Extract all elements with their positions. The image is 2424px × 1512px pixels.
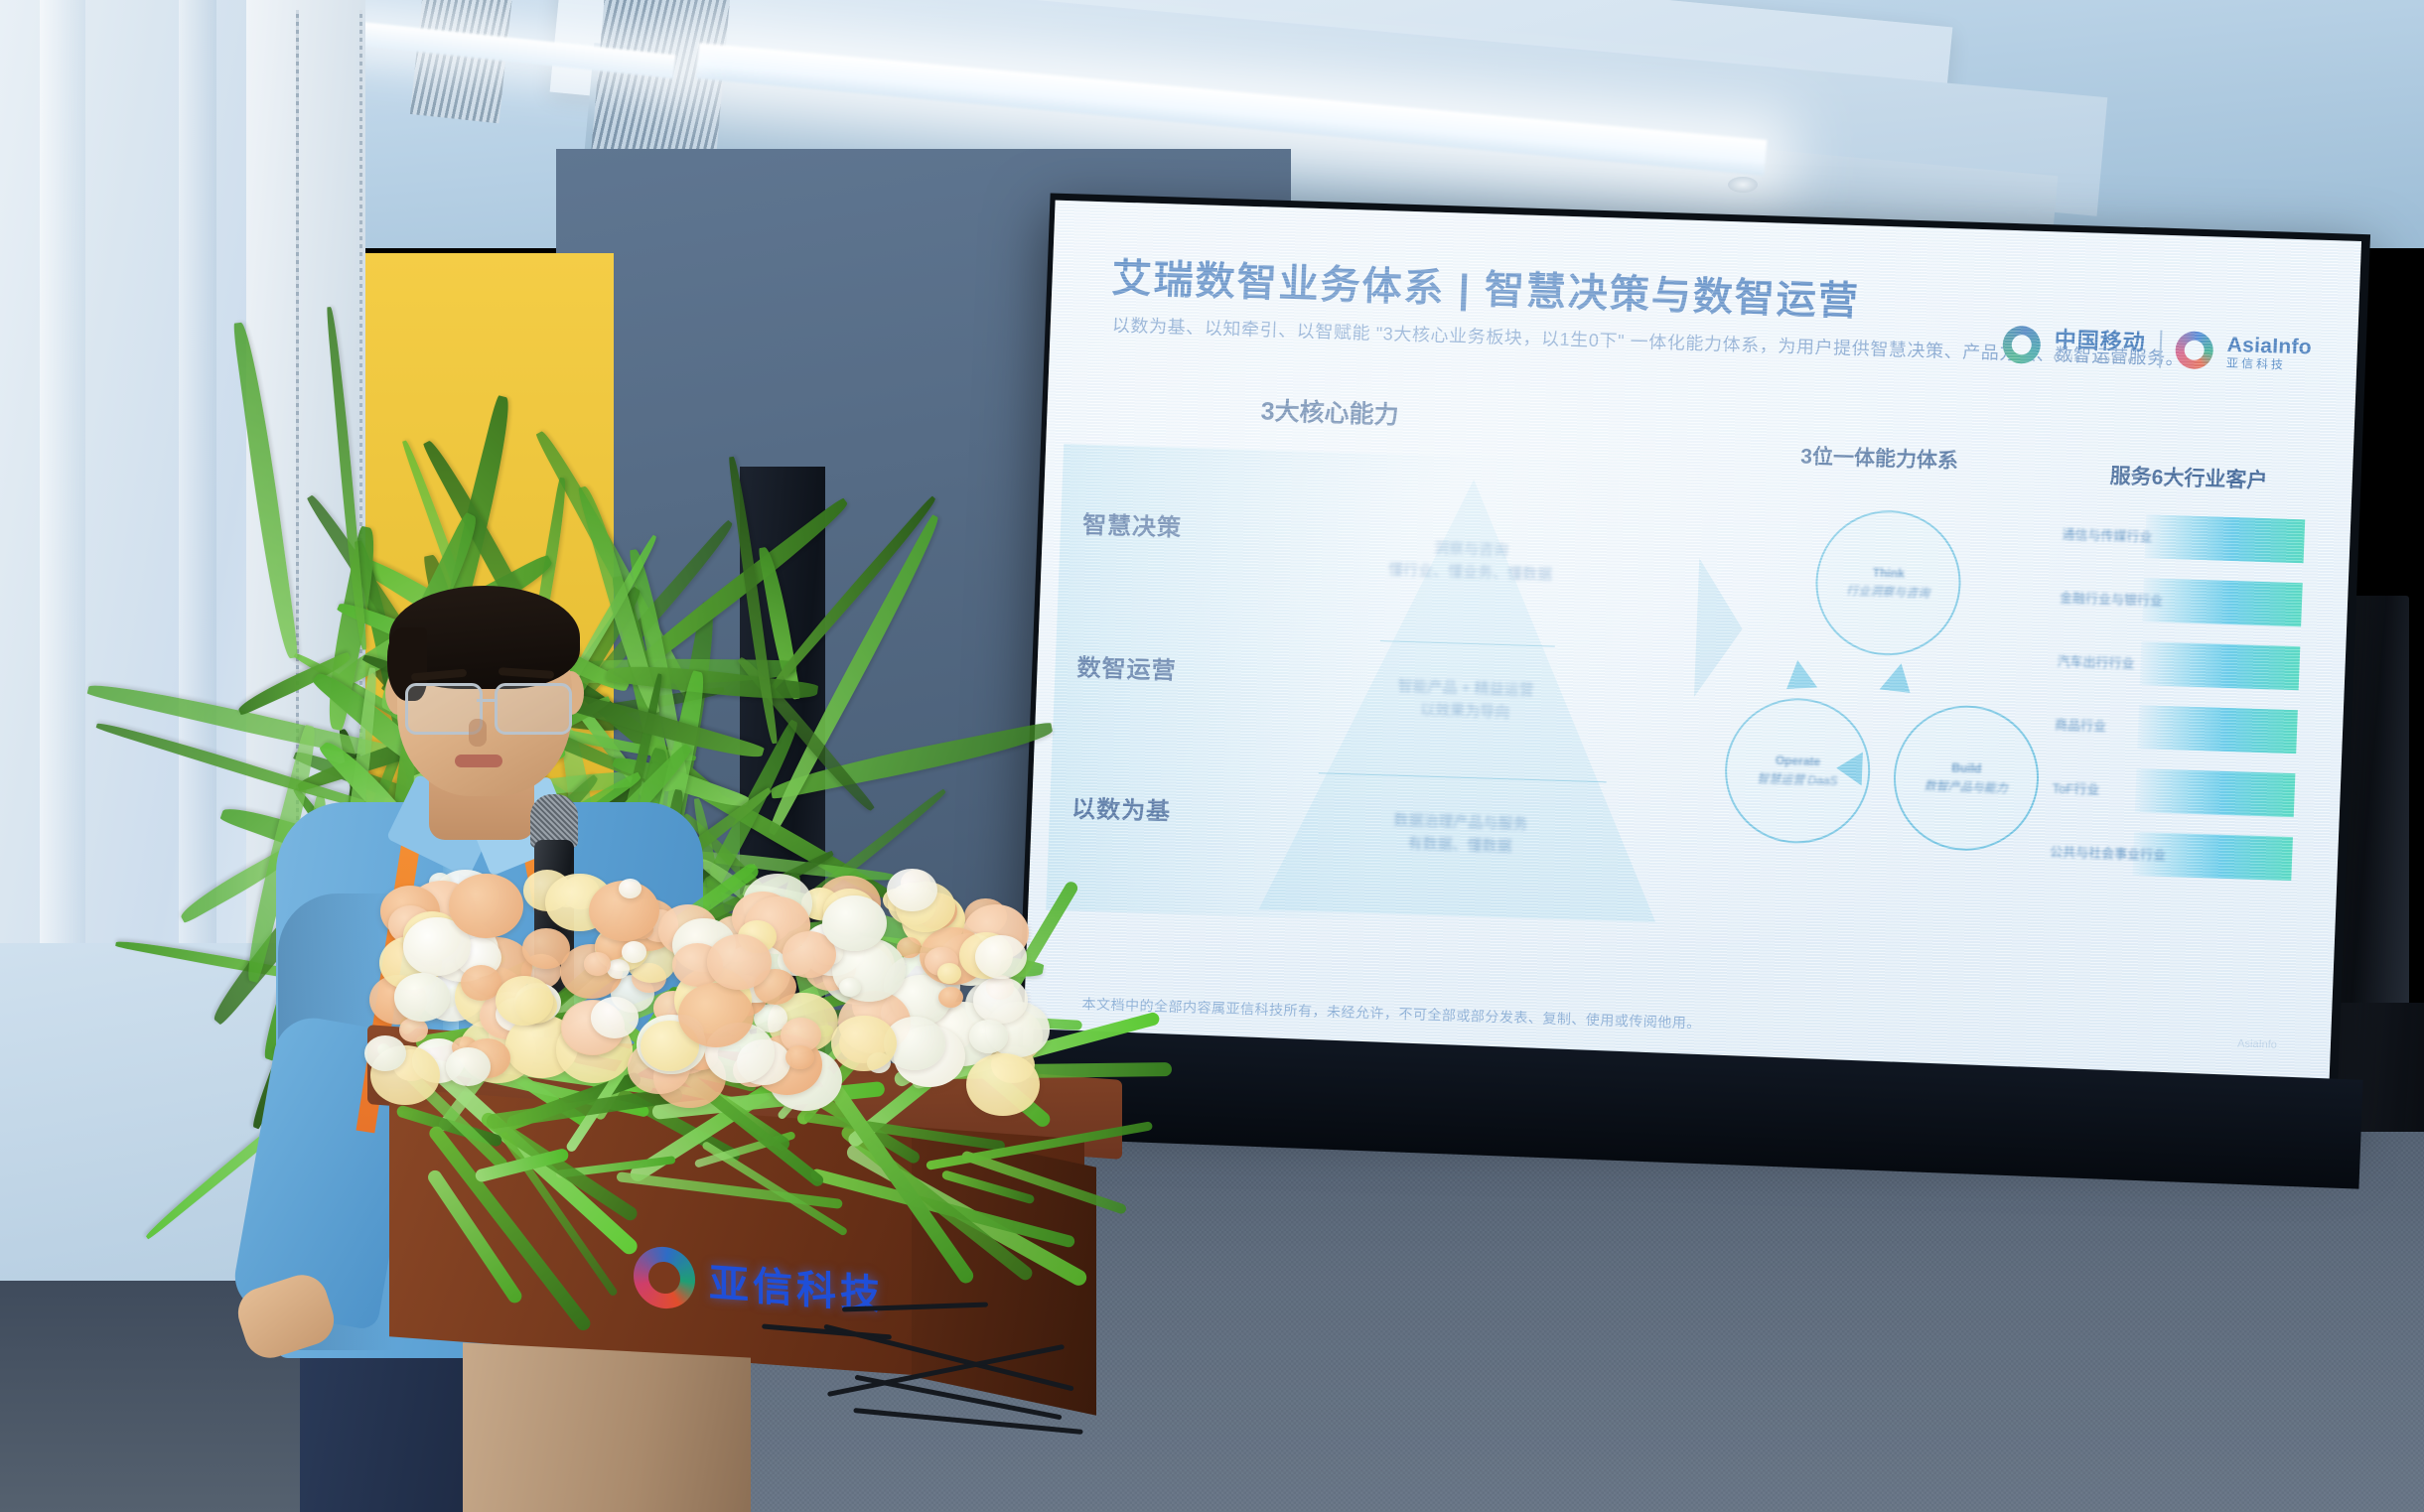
flower-bloom <box>394 973 450 1021</box>
industry-bar <box>2145 514 2306 563</box>
triad-capability-diagram: Think 行业洞察与咨询 Operate 智慧运营 DaaS Build 数智… <box>1714 487 2058 914</box>
smoke-detector-icon <box>1728 177 1758 193</box>
triad-arrow-icon <box>1777 660 1817 703</box>
speaker-mouth <box>455 755 502 767</box>
floor-cables <box>735 1291 1063 1469</box>
pyramid-level-label-2: 以数为基 <box>1071 788 1172 826</box>
industry-label: 通信与传媒行业 <box>2062 524 2153 546</box>
industry-label: ToF行业 <box>2052 777 2099 797</box>
presentation-slide: 艾瑞数智业务体系 | 智慧决策与数智运营 以数为基、以知牵引、以智赋能 "3大核… <box>1023 201 2361 1087</box>
hvac-vent-grille-secondary <box>410 0 513 123</box>
flower-bloom <box>591 997 640 1038</box>
triad-arrow-icon <box>1880 663 1922 706</box>
pyramid-heading: 3大核心能力 <box>1260 391 1399 431</box>
triad-node-2-text: Build 数智产品与能力 <box>1924 758 2008 798</box>
eyeglasses-bridge <box>477 699 497 702</box>
flower-bloom <box>619 879 642 898</box>
flower-bloom <box>966 1053 1040 1117</box>
industry-bar <box>2140 641 2301 690</box>
triad-node-2-cn: 数智产品与能力 <box>1924 778 2008 795</box>
industry-row: 金融行业与银行业 <box>2053 571 2303 632</box>
slide-footer-disclaimer: 本文档中的全部内容属亚信科技所有，未经允许，不可全部或部分发表、复制、使用或传阅… <box>1081 994 1701 1033</box>
china-mobile-name-en: China Mobile <box>2054 353 2145 366</box>
eyeglasses-lens-right <box>495 683 572 735</box>
flower-bloom <box>364 1035 406 1071</box>
flower-bloom <box>449 874 523 937</box>
triad-node-1-text: Operate 智慧运营 DaaS <box>1757 752 1839 791</box>
capability-pyramid-diagram: 洞察与咨询 懂行业、懂业务、懂数据 智能产品 + 精益运营 以效果为导向 数据治… <box>1258 474 1672 922</box>
china-mobile-name-cn: 中国移动 <box>2054 329 2146 353</box>
slide-watermark: AsiaInfo <box>2237 1037 2277 1050</box>
cable <box>842 1302 988 1311</box>
flower-bloom <box>622 941 646 963</box>
flower-bloom <box>937 963 961 984</box>
podium-column <box>463 1342 751 1512</box>
triad-arrow-icon <box>1836 752 1863 786</box>
flower-bloom <box>496 976 553 1026</box>
flower-bloom <box>831 1016 897 1071</box>
triad-node-1-en: Operate <box>1776 754 1821 768</box>
flower-bloom <box>975 935 1027 980</box>
triad-node-1-cn: 智慧运营 DaaS <box>1757 771 1838 788</box>
logo-divider <box>2159 331 2162 368</box>
flower-bloom <box>887 869 937 912</box>
industry-bar <box>2142 578 2303 626</box>
cable <box>827 1344 1065 1397</box>
led-wall-screen[interactable]: 艾瑞数智业务体系 | 智慧决策与数智运营 以数为基、以知牵引、以智赋能 "3大核… <box>1023 201 2361 1087</box>
industry-row: 商品行业 <box>2048 698 2298 759</box>
asiainfo-logo-text: AsiaInfo 亚信科技 <box>2226 334 2313 371</box>
flower-bloom <box>839 978 861 997</box>
triad-node-0-cn: 行业洞察与咨询 <box>1846 584 1930 601</box>
industry-heading: 服务6大行业客户 <box>2109 460 2268 494</box>
industry-label: 金融行业与银行业 <box>2060 588 2164 610</box>
flower-bloom <box>446 1047 491 1085</box>
industry-bar-list: 通信与传媒行业金融行业与银行业汽车出行行业商品行业ToF行业公共与社会事业行业 <box>2043 507 2306 896</box>
flower-bloom <box>938 987 963 1008</box>
industry-bar <box>2137 705 2298 754</box>
triad-node-think: Think 行业洞察与咨询 <box>1813 508 1964 657</box>
industry-row: ToF行业 <box>2046 761 2296 823</box>
industry-label: 商品行业 <box>2055 715 2107 736</box>
industry-row: 汽车出行行业 <box>2051 634 2301 696</box>
triad-node-build: Build 数智产品与能力 <box>1891 703 2042 852</box>
flower-bloom <box>678 983 754 1048</box>
asiainfo-logo-icon <box>2175 331 2213 369</box>
speaker-nose <box>469 719 487 747</box>
pyramid-level-label-1: 数智运营 <box>1076 648 1177 686</box>
industry-row: 通信与传媒行业 <box>2055 507 2305 569</box>
triad-node-2-en: Build <box>1951 761 1982 776</box>
conference-photo-scene: 艾瑞数智业务体系 | 智慧决策与数智运营 以数为基、以知牵引、以智赋能 "3大核… <box>0 0 2424 1512</box>
china-mobile-logo-text: 中国移动 China Mobile <box>2054 329 2146 366</box>
asiainfo-name-en: AsiaInfo <box>2226 334 2312 357</box>
industry-label: 公共与社会事业行业 <box>2050 841 2167 864</box>
industry-label: 汽车出行行业 <box>2057 651 2135 672</box>
asiainfo-name-cn: 亚信科技 <box>2226 356 2312 371</box>
flower-bloom <box>522 928 570 969</box>
triad-node-0-text: Think 行业洞察与咨询 <box>1846 563 1930 603</box>
cable <box>824 1324 1074 1392</box>
pyramid-level-label-0: 智慧决策 <box>1082 505 1183 543</box>
china-mobile-logo-icon <box>2002 326 2041 364</box>
triad-node-0-en: Think <box>1873 566 1906 581</box>
industry-bar <box>2135 768 2296 817</box>
flower-bloom <box>707 934 772 990</box>
flower-bloom <box>785 1045 813 1069</box>
industry-row: 公共与社会事业行业 <box>2043 825 2293 887</box>
flower-arrangement <box>320 856 1074 1183</box>
triad-heading: 3位一体能力体系 <box>1800 440 1959 475</box>
